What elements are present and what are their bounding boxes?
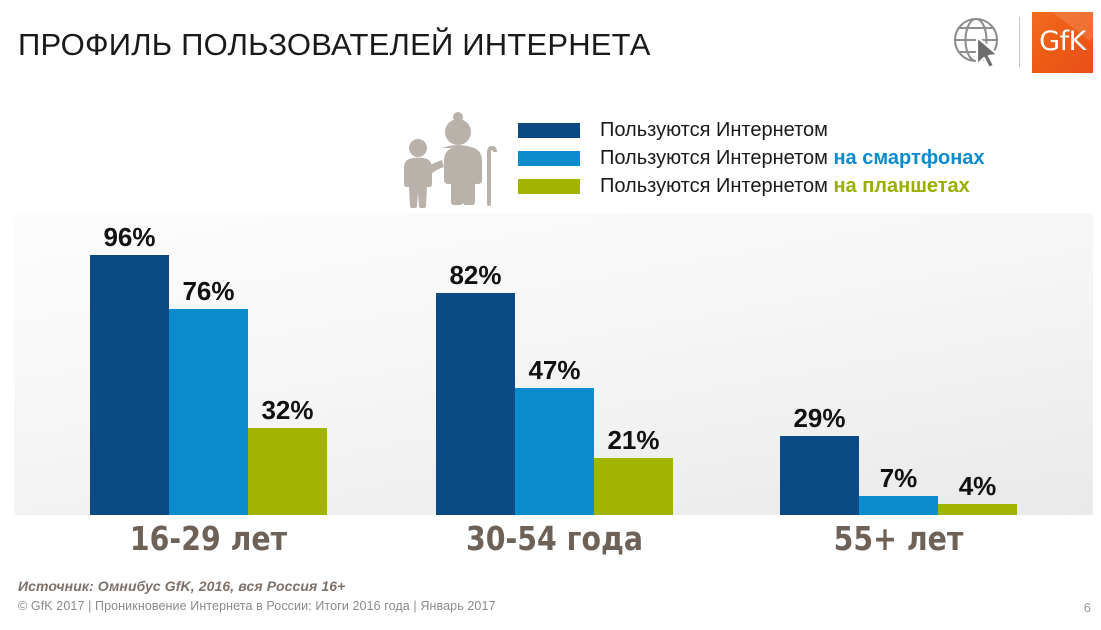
bar-value-label: 96%	[90, 222, 169, 253]
page-title: ПРОФИЛЬ ПОЛЬЗОВАТЕЛЕЙ ИНТЕРНЕТА	[18, 27, 651, 63]
category-label-1: 16-29 лет	[107, 519, 311, 558]
bar-3-group-2	[594, 458, 673, 515]
bar-1-group-2	[436, 293, 515, 515]
bar-value-label: 4%	[938, 471, 1017, 502]
bar-2-group-2	[515, 388, 594, 515]
bar-value-label: 32%	[248, 395, 327, 426]
chart-legend: Пользуются Интернетом Пользуются Интерне…	[518, 118, 1093, 202]
gfk-logo-text: GfK	[1032, 26, 1093, 57]
category-label-3: 55+ лет	[797, 519, 1001, 558]
logo-divider	[1019, 17, 1020, 67]
legend-label-smartphones: Пользуются Интернетом на смартфонах	[600, 148, 985, 168]
bar-2-group-1	[169, 309, 248, 515]
bar-value-label: 21%	[594, 425, 673, 456]
bar-3-group-3	[938, 504, 1017, 515]
legend-label-tablets: Пользуются Интернетом на планшетах	[600, 176, 970, 196]
globe-cursor-icon	[949, 13, 1007, 71]
bar-value-label: 29%	[780, 403, 859, 434]
bar-value-label: 7%	[859, 463, 938, 494]
chart-panel: 96%76%32%82%47%21%29%7%4%	[14, 213, 1093, 515]
bar-1-group-3	[780, 436, 859, 515]
legend-item-smartphones: Пользуются Интернетом на смартфонах	[518, 146, 1093, 170]
legend-item-tablets: Пользуются Интернетом на планшетах	[518, 174, 1093, 198]
legend-swatch-internet	[518, 123, 580, 138]
bar-3-group-1	[248, 428, 327, 515]
copyright-line: © GfK 2017 | Проникновение Интернета в Р…	[18, 599, 1083, 613]
bar-value-label: 47%	[515, 355, 594, 386]
legend-swatch-smartphones	[518, 151, 580, 166]
logo-cluster: GfK	[949, 10, 1093, 74]
category-axis: 16-29 лет30-54 года55+ лет	[14, 519, 1093, 563]
bar-value-label: 82%	[436, 260, 515, 291]
header: ПРОФИЛЬ ПОЛЬЗОВАТЕЛЕЙ ИНТЕРНЕТА GfK	[0, 0, 1101, 92]
footer: Источник: Омнибус GfK, 2016, вся Россия …	[18, 578, 1083, 613]
legend-label-internet: Пользуются Интернетом	[600, 120, 828, 140]
bar-2-group-3	[859, 496, 938, 515]
gfk-logo: GfK	[1032, 12, 1093, 73]
page-number: 6	[1084, 600, 1091, 615]
legend-item-internet: Пользуются Интернетом	[518, 118, 1093, 142]
plot-area: 96%76%32%82%47%21%29%7%4%	[14, 213, 1093, 515]
legend-swatch-tablets	[518, 179, 580, 194]
elderly-person-with-child-icon	[398, 108, 506, 208]
bar-1-group-1	[90, 255, 169, 515]
category-label-2: 30-54 года	[453, 519, 657, 558]
source-line: Источник: Омнибус GfK, 2016, вся Россия …	[18, 578, 1083, 594]
bar-value-label: 76%	[169, 276, 248, 307]
